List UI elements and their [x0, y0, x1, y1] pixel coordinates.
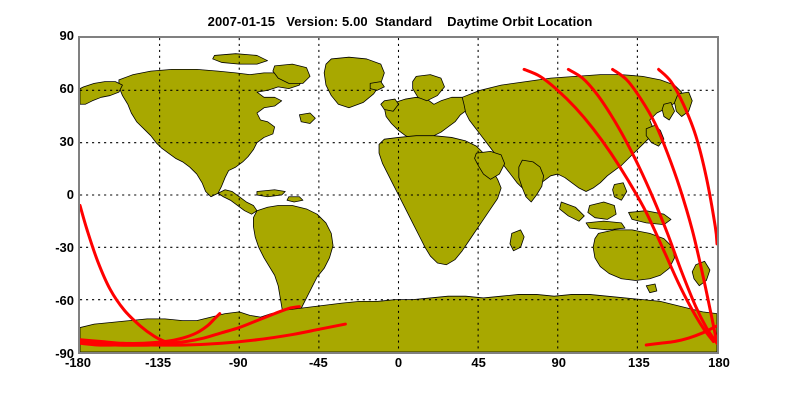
orbit-location-plot: 2007-01-15 Version: 5.00 Standard Daytim…	[0, 0, 800, 400]
x-axis-tick-label: -135	[128, 356, 188, 369]
x-axis-tick-label: -180	[48, 356, 108, 369]
x-axis-tick-label: -45	[288, 356, 348, 369]
x-axis-labels: -180-135-90-4504590135180	[0, 0, 800, 400]
x-axis-tick-label: 45	[449, 356, 509, 369]
x-axis-tick-label: 90	[529, 356, 589, 369]
x-axis-tick-label: 0	[369, 356, 429, 369]
x-axis-tick-label: -90	[208, 356, 268, 369]
x-axis-tick-label: 180	[689, 356, 749, 369]
x-axis-tick-label: 135	[609, 356, 669, 369]
